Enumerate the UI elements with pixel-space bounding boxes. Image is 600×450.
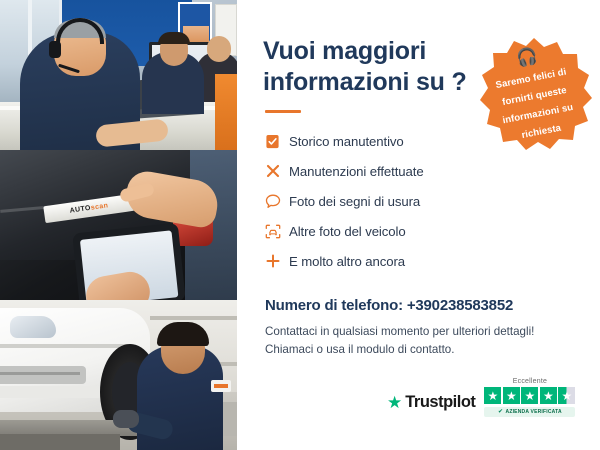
title-divider: [265, 110, 301, 113]
trustpilot-star-icon: ★: [387, 394, 402, 411]
star-icon: ★: [484, 387, 501, 404]
feature-label: Manutenzioni effettuate: [289, 164, 424, 179]
seal-content: 🎧 Saremo felici di fornirti queste infor…: [478, 40, 590, 149]
feature-label: Foto dei segni di usura: [289, 194, 420, 209]
star-half-icon: ★: [558, 387, 575, 404]
star-icon: ★: [503, 387, 520, 404]
contact-line-2: Chiamaci o usa il modulo di contatto.: [265, 341, 578, 359]
call-center-photo: [0, 0, 237, 150]
headset-earcup-decor: [49, 41, 61, 58]
car-bumper-decor: [0, 386, 102, 398]
speech-bubble-icon: [265, 194, 289, 209]
mechanic-glove-decor: [113, 410, 139, 428]
feature-item-manutenzioni-effettuate: Manutenzioni effettuate: [265, 157, 578, 185]
car-grille-decor: [0, 366, 86, 384]
trustpilot-rating-label: Eccellente: [484, 378, 575, 385]
mechanic-hair-decor: [157, 322, 209, 346]
photo-column: AUTOscan: [0, 0, 237, 450]
page-title: Vuoi maggiori informazioni su ?: [263, 36, 468, 97]
tools-cross-icon: [265, 163, 289, 179]
verified-business-badge: ✔ AZIENDA VERIFICATA: [484, 407, 575, 417]
feature-label: Altre foto del veicolo: [289, 224, 406, 239]
headlight-decor: [10, 316, 56, 338]
phone-number-line[interactable]: Numero di telefono: +390238583852: [265, 297, 578, 314]
workshop-shelf-decor: [150, 316, 237, 320]
contact-instructions: Contattaci in qualsiasi momento per ulte…: [265, 323, 578, 359]
uniform-logo-decor: [211, 380, 231, 392]
trustpilot-widget[interactable]: ★ Trustpilot Eccellente ★ ★ ★ ★ ★ ✔ AZIE…: [387, 378, 575, 417]
orange-pillar-decor: [215, 74, 237, 150]
feature-item-altre-foto-veicolo: Altre foto del veicolo: [265, 217, 578, 245]
seal-text: Saremo felici di fornirti queste informa…: [495, 67, 574, 141]
tablet-line-decor: [90, 247, 142, 255]
feature-item-foto-segni-usura: Foto dei segni di usura: [265, 187, 578, 215]
clipboard-check-icon: [265, 134, 289, 149]
feature-label: Storico manutentivo: [289, 134, 404, 149]
trustpilot-logo[interactable]: ★ Trustpilot: [387, 393, 475, 417]
workshop-tire-photo: [0, 300, 237, 450]
feature-item-molto-altro: E molto altro ancora: [265, 247, 578, 275]
trustpilot-rating-block: Eccellente ★ ★ ★ ★ ★ ✔ AZIENDA VERIFICAT…: [484, 378, 575, 417]
content-panel: Vuoi maggiori informazioni su ? 🎧 Saremo…: [237, 0, 600, 450]
trustpilot-wordmark: Trustpilot: [405, 393, 475, 412]
feature-label: E molto altro ancora: [289, 254, 405, 269]
scan-frame-car-icon: [265, 224, 289, 239]
background-person-3-head-decor: [207, 36, 231, 62]
star-icon: ★: [540, 387, 557, 404]
verified-label: AZIENDA VERIFICATA: [506, 409, 562, 415]
lift-base-decor: [0, 434, 120, 450]
plus-icon: [265, 253, 289, 269]
star-icon: ★: [521, 387, 538, 404]
car-hood-line-decor: [0, 344, 132, 348]
info-on-request-seal: 🎧 Saremo felici di fornirti queste infor…: [476, 36, 592, 152]
strip-accent-decor: scan: [90, 202, 108, 211]
trustpilot-stars: ★ ★ ★ ★ ★: [484, 387, 575, 404]
background-person-2-hair-decor: [158, 32, 190, 44]
check-circle-icon: ✔: [498, 409, 503, 415]
vehicle-inspection-photo: AUTOscan: [0, 150, 237, 300]
promo-banner: AUTOscan: [0, 0, 600, 450]
tablet-line-decor: [91, 254, 157, 264]
contact-line-1: Contattaci in qualsiasi momento per ulte…: [265, 323, 578, 341]
strip-label: AUTO: [69, 205, 91, 215]
